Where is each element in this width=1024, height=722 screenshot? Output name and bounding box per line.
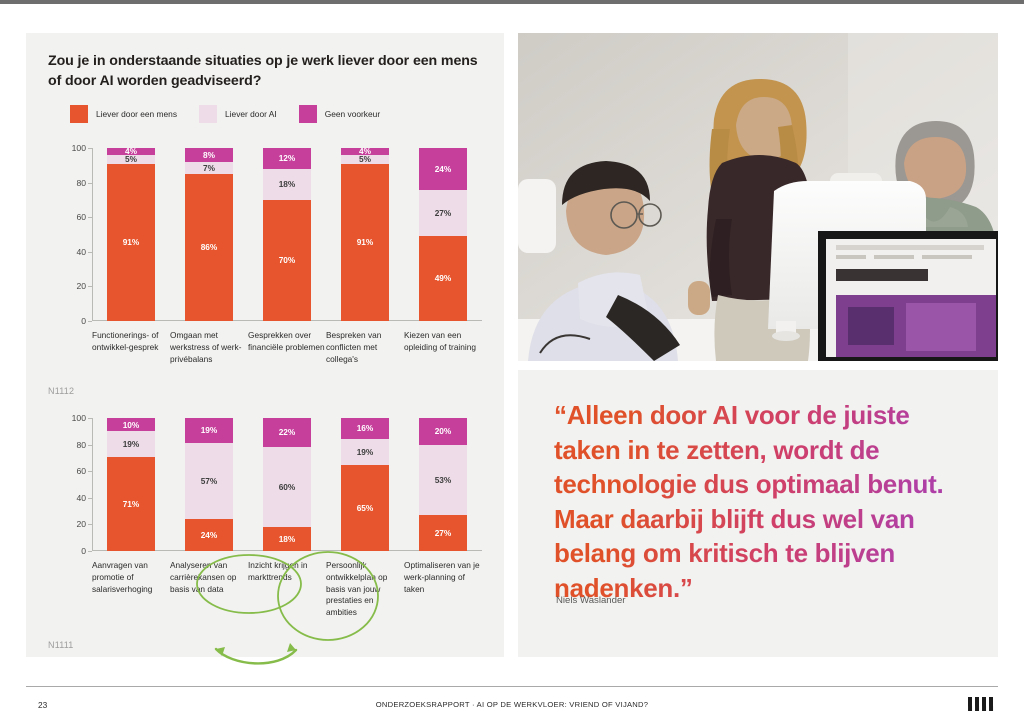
y-tick-80: 80 <box>76 440 86 450</box>
x-label-slot: Functionerings- of ontwikkel-gesprek <box>92 330 170 365</box>
plot-area: 100806040200 10%19%71%19%57%24%22%60%18%… <box>92 418 482 551</box>
bar-segment-mens: 70% <box>263 200 311 321</box>
bar-slot: 22%60%18% <box>248 418 326 551</box>
bar-segment-ai: 7% <box>185 162 233 174</box>
bar-slot: 8%7%86% <box>170 148 248 321</box>
stacked-bar[interactable]: 10%19%71% <box>107 418 155 551</box>
x-label-slot: Aanvragen van promotie of salarisverhogi… <box>92 560 170 619</box>
bar-slot: 20%53%27% <box>404 418 482 551</box>
sample-size-label: N1112 <box>48 386 74 396</box>
legend-label: Geen voorkeur <box>325 109 380 119</box>
report-slide: Zou je in onderstaande situaties op je w… <box>0 0 1024 722</box>
legend-swatch-ai <box>199 105 217 123</box>
chart-functioneringsgesprekken: 100806040200 4%5%91%8%7%86%12%18%70%4%5%… <box>26 148 504 418</box>
x-label-slot: Analyseren van carrièrekansen op basis v… <box>170 560 248 619</box>
chart-ai-taken: 100806040200 10%19%71%19%57%24%22%60%18%… <box>26 418 504 680</box>
bar-segment-ai: 57% <box>185 443 233 519</box>
bar-segment-ai: 19% <box>107 431 155 456</box>
bar-segment-mens: 91% <box>341 164 389 321</box>
bar-segment-mens: 18% <box>263 527 311 551</box>
bar-segment-geen: 12% <box>263 148 311 169</box>
page-title: Zou je in onderstaande situaties op je w… <box>48 51 486 91</box>
x-axis-label: Functionerings- of ontwikkel-gesprek <box>92 330 170 365</box>
stacked-bar[interactable]: 4%5%91% <box>107 148 155 321</box>
x-axis-label: Persoonlijk ontwikkelplan op basis van j… <box>326 560 404 619</box>
bar-segment-ai: 60% <box>263 447 311 527</box>
y-tick-0: 0 <box>81 316 86 326</box>
bar-slot: 10%19%71% <box>92 418 170 551</box>
x-axis-label: Inzicht krijgen in markttrends <box>248 560 326 619</box>
y-tick-100: 100 <box>72 413 86 423</box>
legend-item-ai: Liever door AI <box>199 105 277 123</box>
bar-segment-geen: 20% <box>419 418 467 445</box>
stacked-bar[interactable]: 24%27%49% <box>419 148 467 321</box>
y-tick-60: 60 <box>76 212 86 222</box>
bar-segment-geen: 22% <box>263 418 311 447</box>
y-tick-20: 20 <box>76 281 86 291</box>
bar-group: 4%5%91%8%7%86%12%18%70%4%5%91%24%27%49% <box>92 148 482 321</box>
y-tick-40: 40 <box>76 493 86 503</box>
x-axis-labels: Functionerings- of ontwikkel-gesprekOmga… <box>92 330 482 365</box>
x-axis-label: Kiezen van een opleiding of training <box>404 330 482 365</box>
x-label-slot: Persoonlijk ontwikkelplan op basis van j… <box>326 560 404 619</box>
stacked-bar[interactable]: 19%57%24% <box>185 418 233 551</box>
ww-logo-icon <box>968 697 1002 711</box>
bar-segment-geen: 10% <box>107 418 155 431</box>
bar-segment-mens: 65% <box>341 465 389 551</box>
chart-legend: Liever door een mensLiever door AIGeen v… <box>70 105 402 123</box>
x-axis-label: Bespreken van conflicten met collega's <box>326 330 404 365</box>
y-tick-mark <box>88 551 92 552</box>
x-label-slot: Kiezen van een opleiding of training <box>404 330 482 365</box>
bar-segment-geen: 4% <box>107 148 155 155</box>
bar-segment-geen: 16% <box>341 418 389 439</box>
bar-segment-geen: 4% <box>341 148 389 155</box>
legend-swatch-mens <box>70 105 88 123</box>
bar-slot: 4%5%91% <box>92 148 170 321</box>
bar-group: 10%19%71%19%57%24%22%60%18%16%19%65%20%5… <box>92 418 482 551</box>
x-label-slot: Bespreken van conflicten met collega's <box>326 330 404 365</box>
stacked-bar[interactable]: 20%53%27% <box>419 418 467 551</box>
stacked-bar[interactable]: 12%18%70% <box>263 148 311 321</box>
x-axis-label: Aanvragen van promotie of salarisverhogi… <box>92 560 170 619</box>
bar-slot: 4%5%91% <box>326 148 404 321</box>
bar-segment-geen: 24% <box>419 148 467 190</box>
bar-segment-ai: 18% <box>263 169 311 200</box>
x-label-slot: Optimaliseren van je werk-planning of ta… <box>404 560 482 619</box>
footer-divider <box>26 686 998 687</box>
y-tick-0: 0 <box>81 546 86 556</box>
bar-segment-mens: 71% <box>107 457 155 551</box>
bar-segment-geen: 19% <box>185 418 233 443</box>
bar-slot: 16%19%65% <box>326 418 404 551</box>
bar-segment-ai: 5% <box>341 155 389 164</box>
x-axis-label: Omgaan met werkstress of werk-privébalan… <box>170 330 248 365</box>
bar-segment-mens: 27% <box>419 515 467 551</box>
x-label-slot: Omgaan met werkstress of werk-privébalan… <box>170 330 248 365</box>
y-tick-100: 100 <box>72 143 86 153</box>
x-label-slot: Inzicht krijgen in markttrends <box>248 560 326 619</box>
legend-item-mens: Liever door een mens <box>70 105 177 123</box>
bar-segment-geen: 8% <box>185 148 233 162</box>
bar-segment-mens: 24% <box>185 519 233 551</box>
y-tick-80: 80 <box>76 178 86 188</box>
y-tick-40: 40 <box>76 247 86 257</box>
bar-slot: 19%57%24% <box>170 418 248 551</box>
x-label-slot: Gesprekken over financiële problemen <box>248 330 326 365</box>
y-tick-20: 20 <box>76 519 86 529</box>
legend-swatch-geen <box>299 105 317 123</box>
top-divider <box>0 0 1024 4</box>
legend-label: Liever door een mens <box>96 109 177 119</box>
stacked-bar[interactable]: 16%19%65% <box>341 418 389 551</box>
hero-photo <box>518 33 998 361</box>
footer-title: ONDERZOEKSRAPPORT · AI OP DE WERKVLOER: … <box>0 700 1024 709</box>
bar-segment-ai: 19% <box>341 439 389 464</box>
legend-item-geen: Geen voorkeur <box>299 105 380 123</box>
bar-slot: 12%18%70% <box>248 148 326 321</box>
x-axis-labels: Aanvragen van promotie of salarisverhogi… <box>92 560 482 619</box>
bar-segment-mens: 91% <box>107 164 155 321</box>
legend-label: Liever door AI <box>225 109 277 119</box>
charts-panel: Zou je in onderstaande situaties op je w… <box>26 33 504 657</box>
y-tick-mark <box>88 321 92 322</box>
quote-panel: “Alleen door AI voor de juiste taken in … <box>518 370 998 657</box>
photo-illustration <box>518 33 998 361</box>
y-tick-60: 60 <box>76 466 86 476</box>
stacked-bar[interactable]: 22%60%18% <box>263 418 311 551</box>
x-axis-label: Optimaliseren van je werk-planning of ta… <box>404 560 482 619</box>
quote-author: Niels Waslander <box>556 595 626 606</box>
plot-area: 100806040200 4%5%91%8%7%86%12%18%70%4%5%… <box>92 148 482 321</box>
bar-slot: 24%27%49% <box>404 148 482 321</box>
bar-segment-mens: 49% <box>419 236 467 321</box>
bar-segment-ai: 5% <box>107 155 155 164</box>
bar-segment-ai: 53% <box>419 445 467 515</box>
x-axis-label: Gesprekken over financiële problemen <box>248 330 326 365</box>
sample-size-label: N1111 <box>48 640 74 650</box>
bar-segment-mens: 86% <box>185 174 233 321</box>
stacked-bar[interactable]: 4%5%91% <box>341 148 389 321</box>
bar-segment-ai: 27% <box>419 190 467 237</box>
stacked-bar[interactable]: 8%7%86% <box>185 148 233 321</box>
x-axis-label: Analyseren van carrièrekansen op basis v… <box>170 560 248 619</box>
quote-text: “Alleen door AI voor de juiste taken in … <box>554 398 964 605</box>
